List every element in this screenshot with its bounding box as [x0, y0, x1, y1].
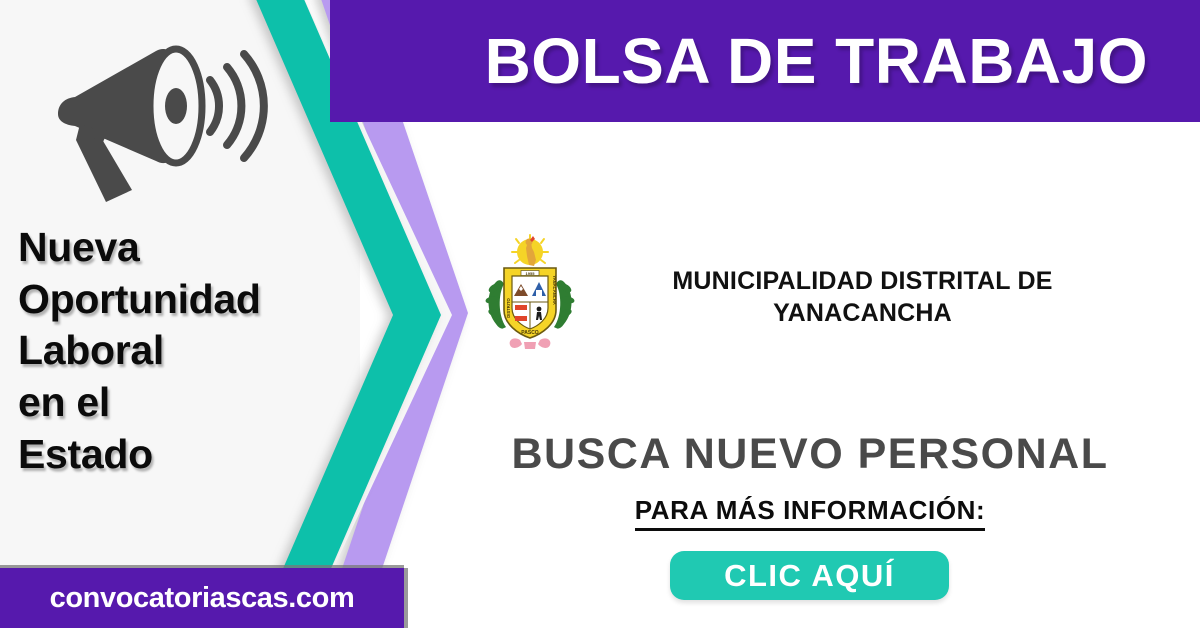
svg-text:YANACANCHA: YANACANCHA — [552, 275, 557, 305]
headline-line-3: Laboral — [18, 325, 348, 377]
website-url-bar[interactable]: convocatoriascas.com — [0, 568, 404, 628]
entity-name: MUNICIPALIDAD DISTRITAL DE YANACANCHA — [605, 265, 1120, 329]
entity-name-line-1: MUNICIPALIDAD DISTRITAL DE — [605, 265, 1120, 297]
callout-subtext: PARA MÁS INFORMACIÓN: — [635, 495, 986, 531]
svg-text:DISTRITO: DISTRITO — [506, 298, 511, 318]
municipal-coat-of-arms-icon: 1955 DISTRITO YANACANCHA PASCO — [474, 232, 586, 357]
entity-name-line-2: YANACANCHA — [605, 297, 1120, 329]
megaphone-icon — [24, 22, 282, 202]
page-title: BOLSA DE TRABAJO — [485, 24, 1148, 98]
callout-subtext-wrapper: PARA MÁS INFORMACIÓN: — [440, 495, 1180, 526]
headline-line-4: en el — [18, 377, 348, 429]
left-headline: Nueva Oportunidad Laboral en el Estado — [18, 222, 348, 480]
job-posting-banner: Nueva Oportunidad Laboral en el Estado c… — [0, 0, 1200, 628]
header-band: BOLSA DE TRABAJO — [330, 0, 1200, 122]
clic-aqui-button[interactable]: CLIC AQUÍ — [670, 551, 949, 600]
website-url-text: convocatoriascas.com — [50, 582, 355, 615]
svg-text:1955: 1955 — [526, 271, 536, 276]
headline-line-5: Estado — [18, 429, 348, 481]
svg-text:PASCO: PASCO — [521, 330, 539, 336]
clic-aqui-label: CLIC AQUÍ — [724, 558, 895, 594]
callout-headline: BUSCA NUEVO PERSONAL — [440, 430, 1180, 479]
headline-line-1: Nueva — [18, 222, 348, 274]
headline-line-2: Oportunidad — [18, 274, 348, 326]
